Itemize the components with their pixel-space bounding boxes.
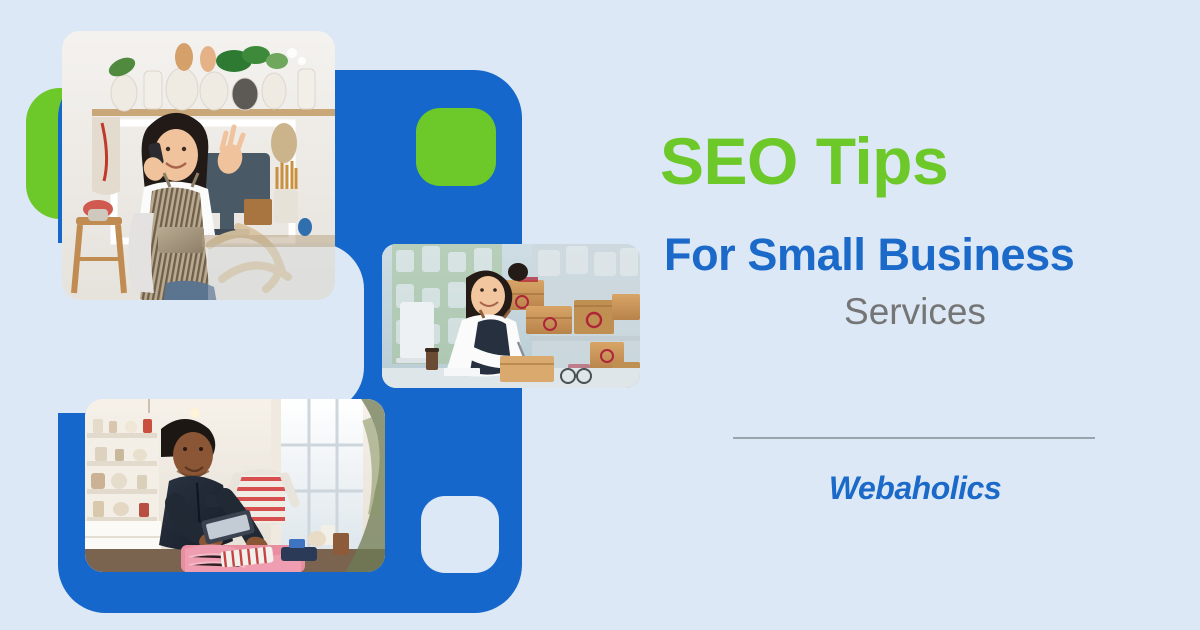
divider-rule: [733, 437, 1095, 439]
brand-logo-webaholics: Webaholics: [655, 471, 1175, 506]
photo-man-arranging-clothing: [85, 399, 385, 572]
image-collage: [0, 0, 660, 630]
photo-woman-packing-parcels: [382, 244, 640, 388]
headline-tertiary: Services: [655, 293, 1175, 330]
seo-tips-promo-banner: SEO Tips For Small Business Services Web…: [0, 0, 1200, 630]
accent-pale-rounded-square: [421, 496, 499, 573]
headline-block: SEO Tips For Small Business Services Web…: [655, 0, 1200, 630]
photo-woman-on-phone-in-pottery-shop: [62, 31, 335, 300]
headline-secondary: For Small Business: [664, 232, 1074, 277]
accent-green-rounded-square: [416, 108, 496, 186]
headline-primary: SEO Tips: [660, 128, 948, 194]
